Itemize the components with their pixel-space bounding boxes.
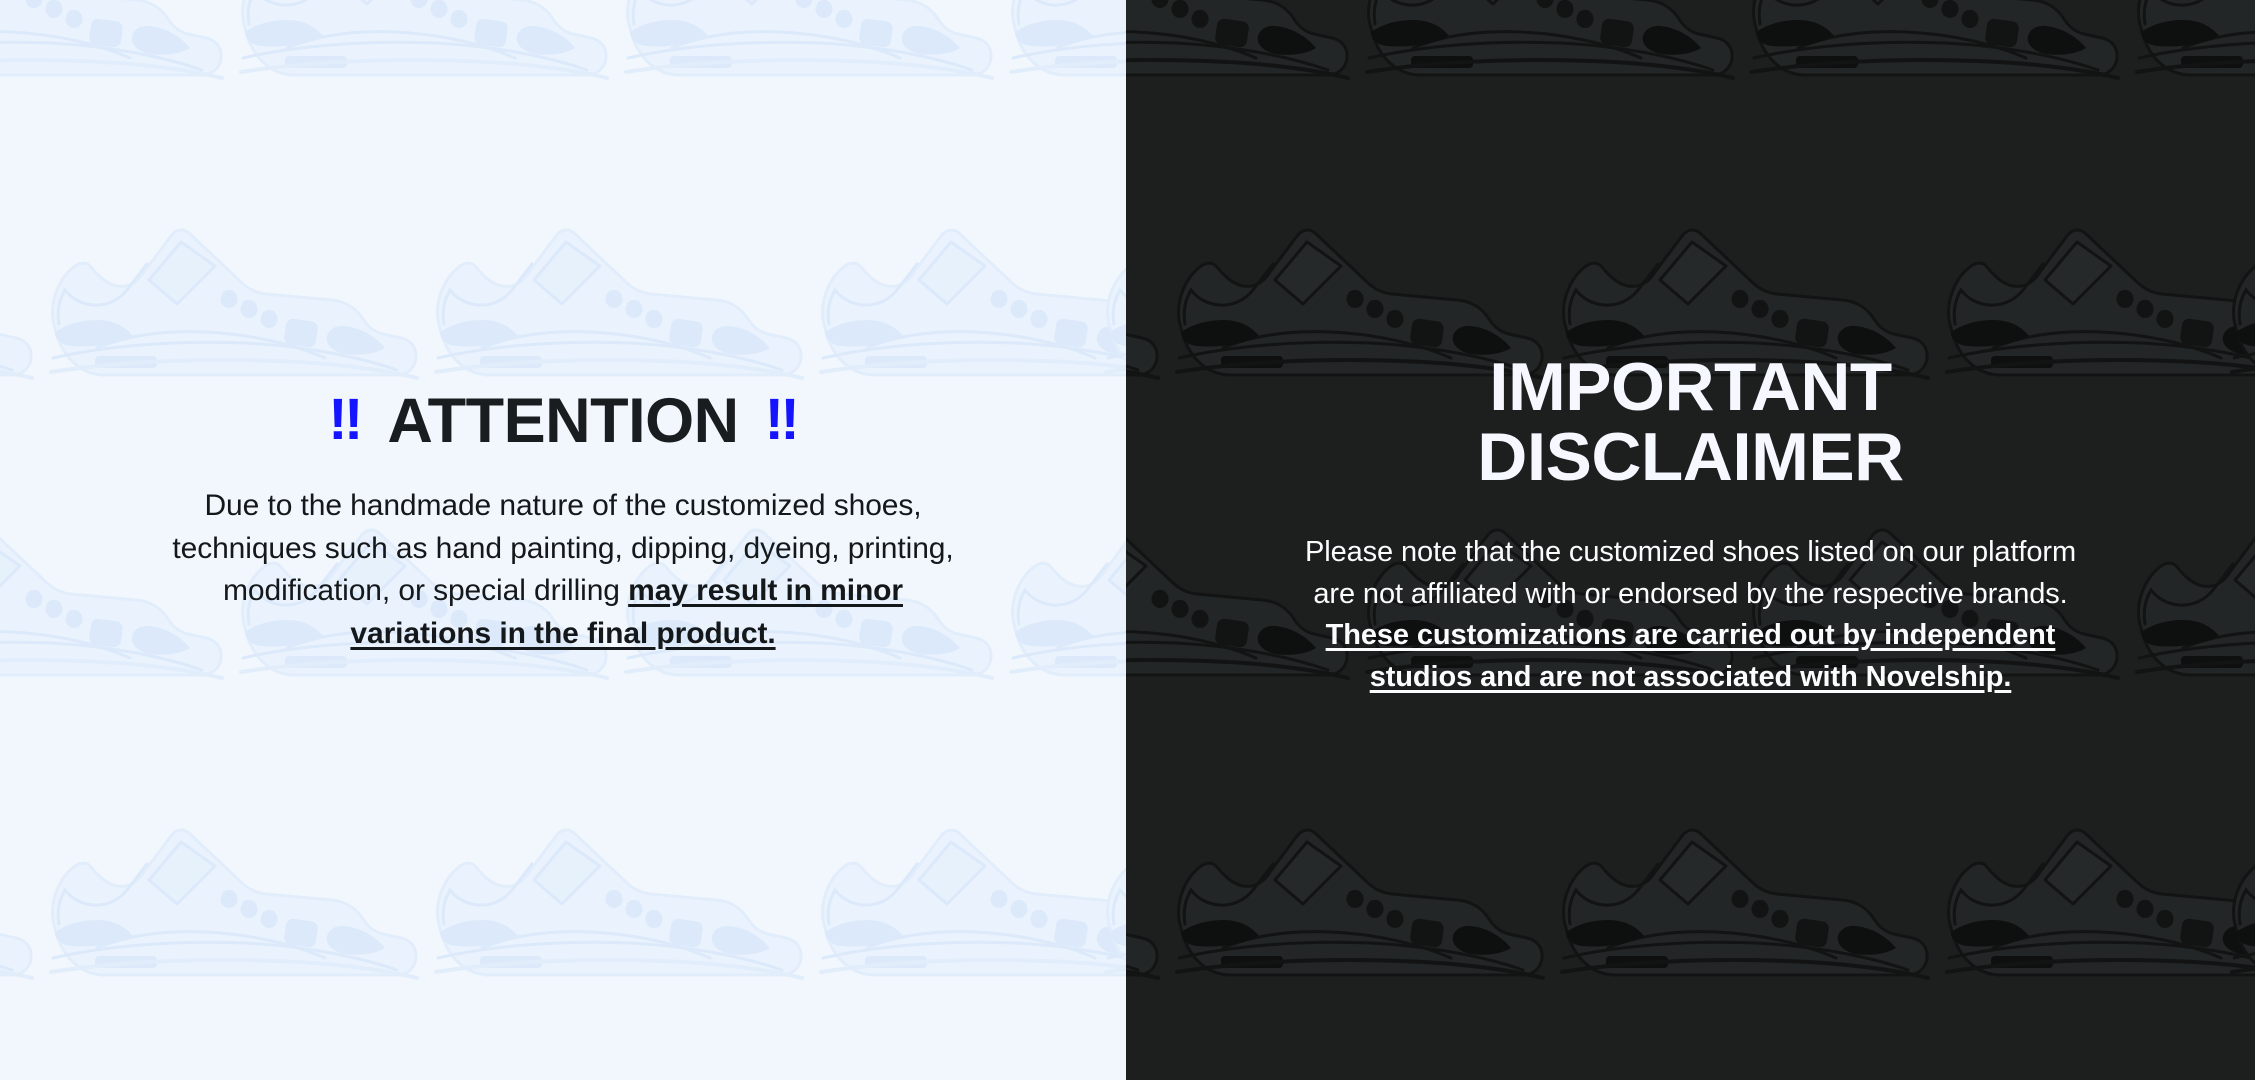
disclaimer-body-normal: Please note that the customized shoes li… <box>1305 536 2076 610</box>
double-exclamation-left-icon: ‼ <box>328 391 361 449</box>
disclaimer-content: IMPORTANT DISCLAIMER Please note that th… <box>1126 353 2255 699</box>
double-exclamation-right-icon: ‼ <box>765 391 798 449</box>
disclaimer-heading-line-1: IMPORTANT <box>1247 353 2133 422</box>
attention-content: ‼ ATTENTION ‼ Due to the handmade nature… <box>0 388 1126 655</box>
attention-body: Due to the handmade nature of the custom… <box>153 485 973 655</box>
disclaimer-banner: ‼ ATTENTION ‼ Due to the handmade nature… <box>0 0 2255 1080</box>
disclaimer-body-emphasis: These customizations are carried out by … <box>1326 619 2056 693</box>
disclaimer-body: Please note that the customized shoes li… <box>1296 532 2086 699</box>
disclaimer-heading: IMPORTANT DISCLAIMER <box>1256 353 2125 492</box>
attention-panel: ‼ ATTENTION ‼ Due to the handmade nature… <box>0 0 1126 1080</box>
attention-heading: ‼ ATTENTION ‼ <box>110 388 1016 455</box>
disclaimer-heading-line-2: DISCLAIMER <box>1247 423 2133 492</box>
disclaimer-panel: IMPORTANT DISCLAIMER Please note that th… <box>1126 0 2255 1080</box>
attention-heading-word: ATTENTION <box>387 388 738 455</box>
